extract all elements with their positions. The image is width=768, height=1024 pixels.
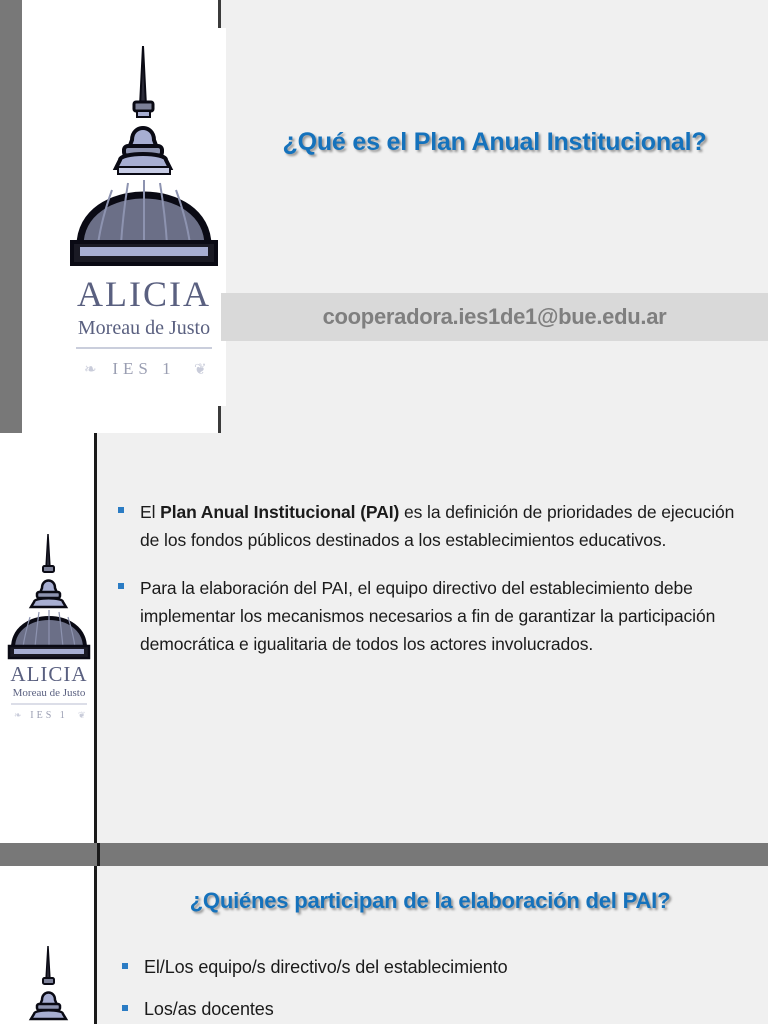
slide-3: ¿Quiénes participan de la elaboración de… bbox=[0, 866, 768, 1024]
svg-text:❦: ❦ bbox=[78, 710, 86, 720]
square-bullet-icon bbox=[118, 498, 140, 513]
slide-3-logo-panel bbox=[0, 866, 97, 1024]
bullet-text: El Plan Anual Institucional (PAI) es la … bbox=[140, 498, 748, 554]
bullet-text-bold: Plan Anual Institucional (PAI) bbox=[160, 502, 399, 522]
list-item: El/Los equipo/s directivo/s del establec… bbox=[122, 954, 742, 980]
svg-text:❧: ❧ bbox=[14, 710, 22, 720]
institution-logo: ALICIA Moreau de Justo IES 1 ❧ ❦ bbox=[62, 28, 226, 406]
slide-separator-band bbox=[0, 843, 768, 866]
bullet-text-pre: Para la elaboración del PAI, el equipo d… bbox=[140, 578, 715, 654]
slide-1-email-band: cooperadora.ies1de1@bue.edu.ar bbox=[221, 293, 768, 341]
list-item: El Plan Anual Institucional (PAI) es la … bbox=[118, 498, 748, 554]
svg-text:ALICIA: ALICIA bbox=[10, 662, 87, 686]
bullet-text-pre: El bbox=[140, 502, 160, 522]
square-bullet-icon bbox=[118, 574, 140, 589]
svg-text:❦: ❦ bbox=[194, 362, 207, 378]
square-bullet-icon bbox=[122, 996, 144, 1011]
svg-text:IES 1: IES 1 bbox=[112, 359, 175, 378]
list-item: Para la elaboración del PAI, el equipo d… bbox=[118, 574, 748, 658]
slide-1: ALICIA Moreau de Justo IES 1 ❧ ❦ ¿Qué es… bbox=[0, 0, 768, 433]
svg-text:Moreau de Justo: Moreau de Justo bbox=[78, 317, 210, 339]
slide-3-bullet-list: El/Los equipo/s directivo/s del establec… bbox=[122, 954, 742, 1024]
institution-logo: ALICIA Moreau de Justo IES 1 ❧ ❦ bbox=[4, 528, 94, 728]
slide-2-logo-panel: ALICIA Moreau de Justo IES 1 ❧ ❦ bbox=[0, 433, 97, 843]
slide-1-left-accent-bar bbox=[0, 0, 22, 433]
slide-2: ALICIA Moreau de Justo IES 1 ❧ ❦ El Plan… bbox=[0, 433, 768, 843]
institution-logo bbox=[4, 940, 94, 1024]
square-bullet-icon bbox=[122, 954, 144, 969]
slide-1-title: ¿Qué es el Plan Anual Institucional? bbox=[221, 128, 768, 157]
contact-email[interactable]: cooperadora.ies1de1@bue.edu.ar bbox=[323, 304, 667, 330]
bullet-text: Para la elaboración del PAI, el equipo d… bbox=[140, 574, 748, 658]
list-item: Los/as docentes bbox=[122, 996, 742, 1022]
slide-1-logo-panel: ALICIA Moreau de Justo IES 1 ❧ ❦ bbox=[22, 0, 221, 433]
slide-2-bullet-list: El Plan Anual Institucional (PAI) es la … bbox=[118, 498, 748, 678]
slide-document: ALICIA Moreau de Justo IES 1 ❧ ❦ ¿Qué es… bbox=[0, 0, 768, 1024]
svg-text:IES 1: IES 1 bbox=[30, 710, 68, 721]
bullet-text: Los/as docentes bbox=[144, 996, 742, 1022]
slide-3-title: ¿Quiénes participan de la elaboración de… bbox=[110, 888, 750, 914]
svg-text:ALICIA: ALICIA bbox=[77, 274, 211, 314]
svg-text:Moreau de Justo: Moreau de Justo bbox=[13, 687, 86, 699]
bullet-text: El/Los equipo/s directivo/s del establec… bbox=[144, 954, 742, 980]
svg-text:❧: ❧ bbox=[84, 362, 97, 378]
slide-separator-rule bbox=[97, 843, 100, 866]
